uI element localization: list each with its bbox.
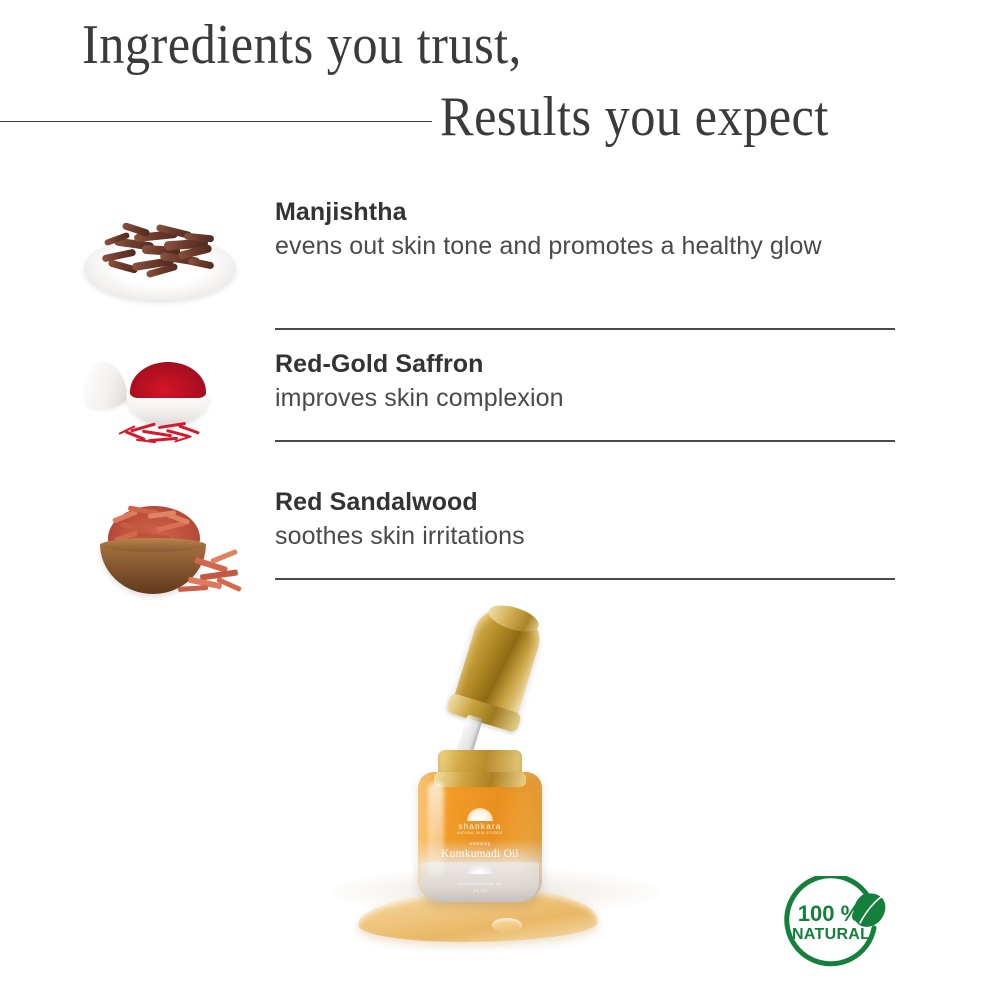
manjishtha-roots-group	[98, 222, 222, 284]
product-size: 15 ml	[440, 887, 520, 894]
badge-text-block: 100 % NATURAL	[792, 902, 866, 944]
ingredient-name: Red Sandalwood	[275, 486, 900, 518]
lotus-logo-icon	[467, 808, 493, 821]
badge-percent: 100 %	[792, 902, 866, 926]
ingredient-name: Manjishtha	[275, 196, 900, 228]
ingredient-name: Red-Gold Saffron	[275, 348, 900, 380]
natural-badge: 100 % NATURAL	[772, 876, 892, 980]
headline-line-1: Ingredients you trust,	[82, 14, 522, 76]
ingredient-divider	[275, 578, 895, 580]
badge-word: NATURAL	[792, 926, 866, 944]
sandalwood-text-block: Red Sandalwood soothes skin irritations	[275, 486, 900, 555]
bowl-lid-shape	[81, 359, 129, 410]
label-ornament-icon	[467, 865, 493, 874]
saffron-powder-in-white-bowl-image	[78, 350, 250, 450]
headline-rule	[0, 121, 432, 122]
product-name: Kumkumadi Oil	[440, 847, 520, 861]
product-kind: Vitalizing	[440, 840, 520, 847]
ingredient-description: evens out skin tone and promotes a healt…	[275, 228, 900, 265]
oil-droplet	[492, 918, 522, 932]
brand-name: shankara	[440, 822, 520, 831]
ingredient-description: improves skin complexion	[275, 380, 900, 417]
ingredient-divider	[275, 440, 895, 442]
ingredient-row-saffron: Red-Gold Saffron improves skin complexio…	[0, 348, 1000, 444]
manjishtha-text-block: Manjishtha evens out skin tone and promo…	[275, 196, 900, 265]
ingredient-row-manjishtha: Manjishtha evens out skin tone and promo…	[0, 196, 1000, 332]
ingredient-description: soothes skin irritations	[275, 518, 900, 555]
ingredient-row-sandalwood: Red Sandalwood soothes skin irritations	[0, 486, 1000, 582]
ingredient-divider	[275, 328, 895, 330]
saffron-powder-mound	[130, 362, 206, 398]
manjishtha-roots-on-white-plate-image	[78, 206, 250, 316]
wooden-bowl-rim	[100, 538, 206, 552]
bottle-label: shankara NATURAL SKIN SCIENCE Vitalizing…	[440, 808, 520, 894]
saffron-text-block: Red-Gold Saffron improves skin complexio…	[275, 348, 900, 417]
red-sandalwood-chips-in-wooden-bowl-image	[78, 490, 250, 600]
headline-block: Ingredients you trust, Results you expec…	[0, 0, 1000, 165]
ingredients-promo-page: Ingredients you trust, Results you expec…	[0, 0, 1000, 1000]
oil-bottle: shankara NATURAL SKIN SCIENCE Vitalizing…	[418, 750, 542, 910]
bottle-gold-collar	[434, 772, 526, 787]
brand-tagline: NATURAL SKIN SCIENCE	[440, 831, 520, 836]
headline-line-2: Results you expect	[440, 86, 829, 148]
kumkumadi-oil-dropper-bottle-image: shankara NATURAL SKIN SCIENCE Vitalizing…	[300, 600, 720, 1000]
